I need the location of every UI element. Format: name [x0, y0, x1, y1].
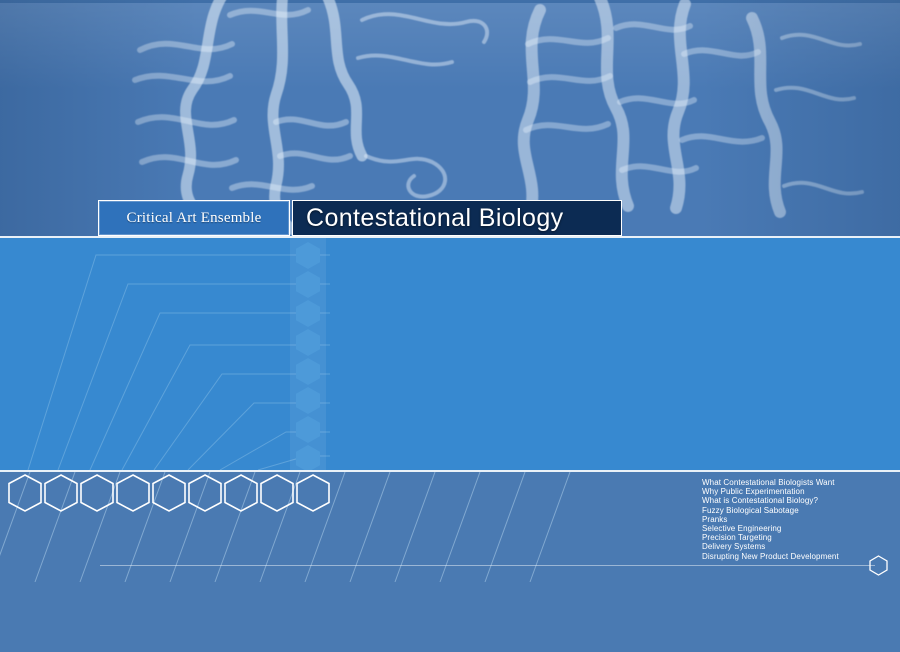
panel-top-divider	[0, 236, 900, 238]
hexagon-outline-icon	[296, 474, 330, 512]
hexagon-outline-icon	[8, 474, 42, 512]
hexagon-outline-icon	[260, 474, 294, 512]
hexagon-outline-icon	[80, 474, 114, 512]
slide-title-box: Contestational Biology	[292, 200, 622, 236]
panel-bottom-divider	[0, 470, 900, 472]
main-panel: HO P O OH O CH 2 O C H OH N CH • H 2 O P…	[0, 238, 900, 470]
list-item[interactable]: Precision Targeting	[702, 533, 892, 542]
list-item[interactable]: Selective Engineering	[702, 524, 892, 533]
hexagon-column	[290, 238, 326, 470]
list-item[interactable]: What is Contestational Biology?	[702, 496, 892, 505]
hexagon-outline-icon	[44, 474, 78, 512]
list-item[interactable]: What Contestational Biologists Want	[702, 478, 892, 487]
hexagon-row	[8, 474, 330, 512]
hexagon-cell	[296, 300, 320, 327]
hexagon-cell	[296, 416, 320, 443]
hexagon-cell	[296, 271, 320, 298]
hexagon-cell	[296, 242, 320, 269]
hexagon-cell	[296, 387, 320, 414]
hexagon-outline-icon	[224, 474, 258, 512]
organization-badge: Critical Art Ensemble	[98, 200, 290, 236]
topics-list: What Contestational Biologists Want Why …	[702, 478, 892, 561]
hexagon-cell	[296, 445, 320, 470]
page-title: Contestational Biology	[306, 204, 564, 233]
hexagon-cell	[296, 329, 320, 356]
angular-line-art	[0, 238, 330, 470]
hexagon-outline-icon	[188, 474, 222, 512]
horizontal-connector-line	[100, 565, 875, 566]
presentation-slide: Critical Art Ensemble Contestational Bio…	[0, 0, 900, 652]
list-item[interactable]: Disrupting New Product Development	[702, 552, 892, 561]
list-item[interactable]: Pranks	[702, 515, 892, 524]
list-item[interactable]: Why Public Experimentation	[702, 487, 892, 496]
hexagon-outline-icon	[152, 474, 186, 512]
hexagon-cell	[296, 358, 320, 385]
title-bar: Critical Art Ensemble Contestational Bio…	[98, 200, 622, 236]
hexagon-outline-icon	[116, 474, 150, 512]
organization-label: Critical Art Ensemble	[126, 210, 261, 227]
list-item[interactable]: Delivery Systems	[702, 542, 892, 551]
list-item[interactable]: Fuzzy Biological Sabotage	[702, 506, 892, 515]
